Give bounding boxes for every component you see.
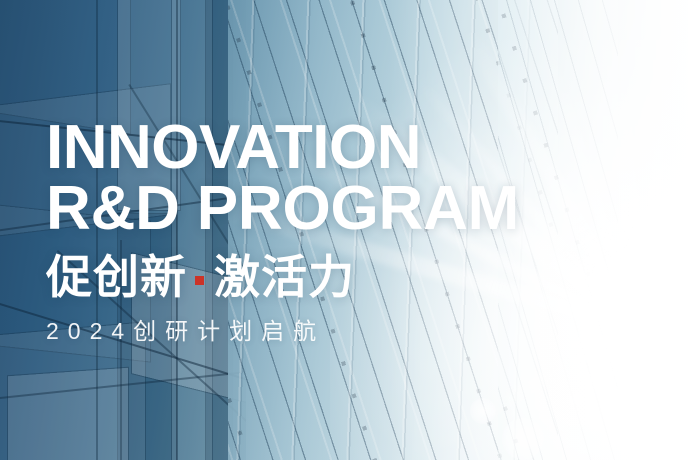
english-headline: INNOVATION R&D PROGRAM — [46, 118, 646, 240]
english-headline-line-2: R&D PROGRAM — [46, 179, 646, 240]
banner-subtitle: 2024创研计划启航 — [46, 312, 646, 346]
banner-text-block: INNOVATION R&D PROGRAM 促创新 激活力 2024创研计划启… — [46, 118, 646, 346]
red-square-separator — [195, 276, 204, 285]
chinese-headline: 促创新 激活力 — [46, 252, 646, 303]
english-headline-line-1: INNOVATION — [46, 118, 646, 179]
chinese-headline-right: 激活力 — [214, 252, 355, 303]
chinese-headline-left: 促创新 — [46, 252, 187, 303]
promo-banner: INNOVATION R&D PROGRAM 促创新 激活力 2024创研计划启… — [0, 0, 688, 460]
